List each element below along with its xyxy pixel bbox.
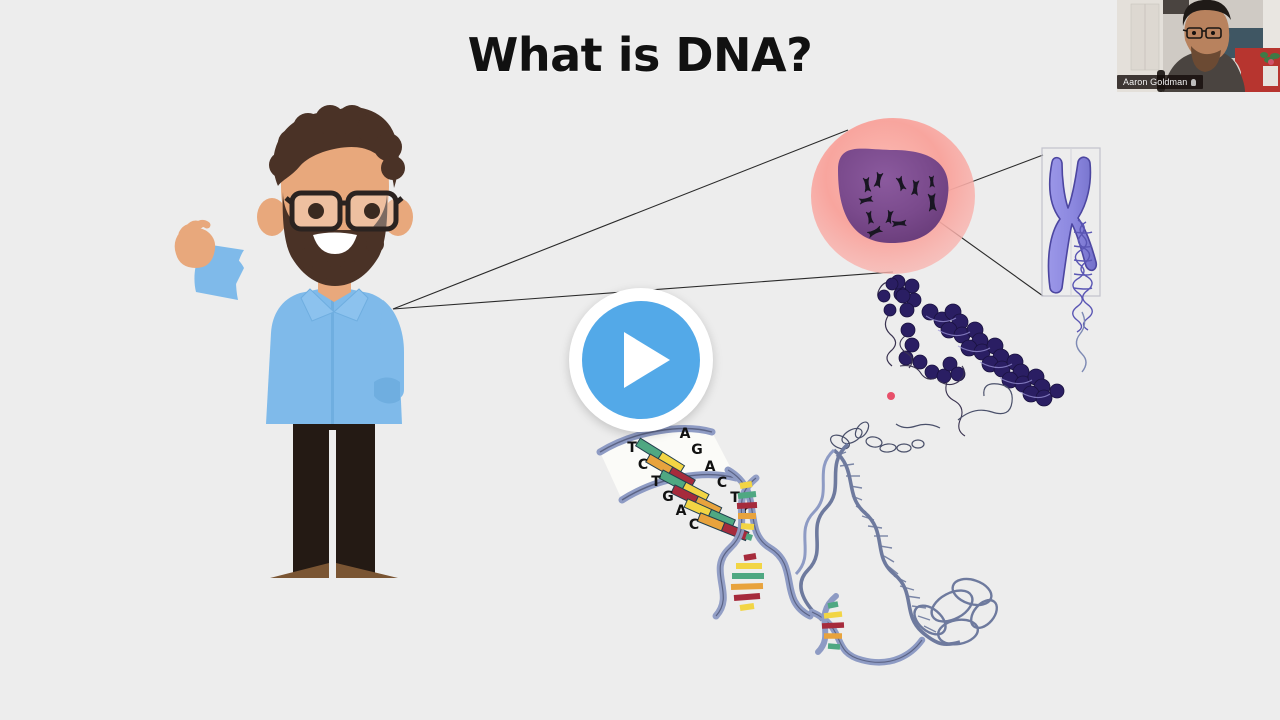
svg-text:T: T: [651, 474, 661, 490]
marker-dot: [887, 392, 895, 400]
participant-name-badge: Aaron Goldman: [1117, 75, 1203, 89]
participant-name: Aaron Goldman: [1123, 77, 1187, 87]
play-button[interactable]: [569, 288, 713, 432]
svg-text:A: A: [705, 459, 716, 475]
svg-text:C: C: [638, 457, 648, 473]
play-button-disc: [582, 301, 700, 419]
svg-text:G: G: [691, 442, 703, 458]
svg-text:A: A: [676, 503, 687, 519]
video-player-stage: T A C G T A: [0, 0, 1280, 720]
svg-text:C: C: [717, 475, 727, 491]
svg-text:T: T: [627, 440, 637, 456]
slide-title: What is DNA?: [0, 28, 1280, 82]
svg-text:C: C: [689, 517, 699, 533]
svg-text:A: A: [680, 426, 691, 442]
svg-text:G: G: [662, 489, 674, 505]
animal-cell-illustration: [811, 118, 975, 274]
play-triangle-icon: [624, 332, 670, 388]
webcam-overlay[interactable]: Aaron Goldman: [1117, 0, 1280, 92]
microphone-icon: [1191, 79, 1196, 86]
